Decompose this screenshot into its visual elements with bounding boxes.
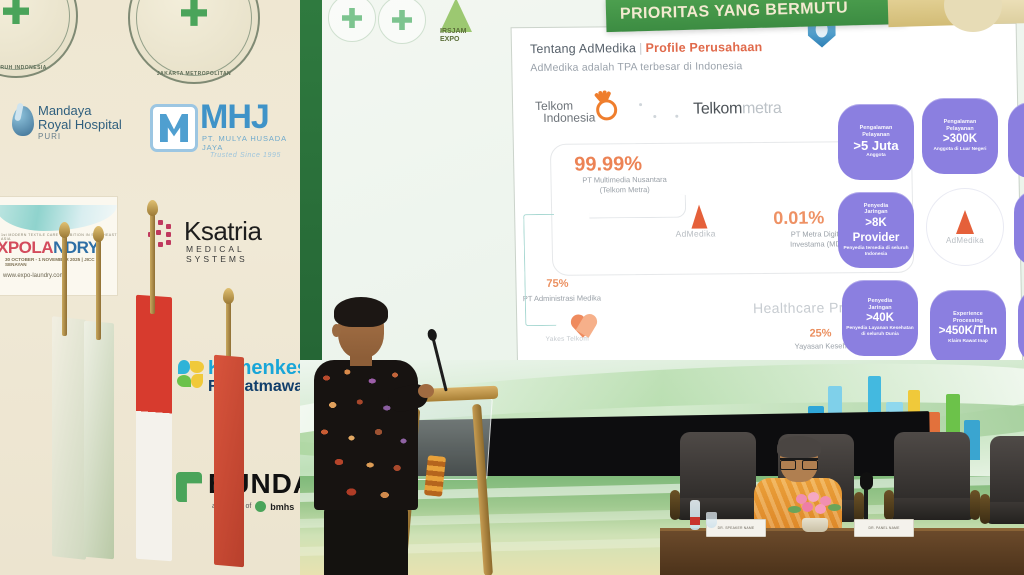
panelist-eyeglasses-icon [780, 458, 818, 468]
partner-logo-row: Telkom Indonesia Telkommetra [535, 92, 806, 130]
flagpole-finial-left [59, 222, 70, 238]
flower-vase [802, 518, 828, 532]
logo-mandaya-royal-hospital: Mandaya Royal Hospital PURI [38, 104, 158, 141]
badge-sub: Penyedia tersedia di seluruh Indonesia [842, 246, 910, 258]
badge-caption: Experience Processing [953, 311, 983, 324]
water-bottle [690, 500, 700, 530]
pct-mdi: 0.01% [773, 208, 824, 229]
presenter-figure [310, 300, 430, 575]
flagpole-finial-right [223, 288, 234, 304]
badge-number: >8K [865, 217, 886, 230]
irsjam-line1: IRSJAM [440, 28, 466, 36]
admedika-a-icon [691, 205, 707, 229]
banner-main-text: PRIORITAS YANG BERMUTU [620, 0, 849, 24]
drinking-glass [706, 512, 717, 528]
flagpole-left [62, 236, 67, 336]
flagpole-center [96, 240, 101, 340]
admedika-a-icon [956, 210, 974, 234]
irsjam-line2: EXPO [440, 36, 466, 44]
label-telkom-metra: PT Multimedia Nusantara (Telkom Metra) [564, 175, 684, 195]
mandaya-line2: Royal Hospital [38, 118, 158, 132]
pct-telkom-metra: 99.99% [574, 153, 642, 177]
chair-arm-left [980, 494, 990, 524]
badge-edge-right: >6 [1018, 288, 1024, 364]
stats-badge-grid: Pengalaman Pelayanan >5 Juta Anggota Pen… [838, 104, 1024, 380]
slide-subheading: AdMedika adalah TPA terbesar di Indonesi… [530, 58, 998, 74]
mandaya-sub: PURI [38, 132, 158, 141]
badge-pengalaman-edge: Pengalaman Pelayanan 1 Ex [1008, 102, 1024, 178]
telkom-connector-dots [535, 92, 805, 94]
flower-arrangement [788, 492, 844, 526]
kemenkes-mark-icon [178, 360, 206, 390]
chair-seat [676, 498, 760, 520]
mhj-monogram-icon [150, 104, 198, 152]
badge-admedika-logo: AdMedika [926, 188, 1004, 266]
flagpole-finial-indonesia [147, 200, 158, 216]
badge-sub: Anggota di Luar Negeri [933, 147, 986, 153]
mandaya-mark-icon [12, 106, 34, 136]
badge-experience-processing: Experience Processing >450K/Thn Klaim Ra… [930, 290, 1006, 366]
presenter-batik-shirt [314, 360, 418, 510]
panel-table: DR. SPEAKER NAME DR. PANEL NAME [660, 528, 1024, 575]
badge-penyedia-jaringan-provider: Penyedia Jaringan >8K Provider Penyedia … [838, 192, 914, 268]
badge-sub: Klaim Rawat Inap [948, 339, 988, 345]
flag-white-green [84, 321, 114, 560]
badge-caption: Pengalaman Pelayanan [860, 125, 893, 138]
ksatria-sub: MEDICAL SYSTEMS [186, 244, 310, 264]
bmhs-wordmark: bmhs [270, 502, 294, 512]
mhj-wordmark: MHJ [200, 100, 310, 134]
chair-arm-right [970, 490, 980, 520]
slide-heading-right: Profile Perusahaan [645, 40, 762, 55]
badge-sub: Anggota [866, 153, 885, 159]
telkommetra-bold: Telkom [693, 100, 742, 117]
presenter-hair [334, 297, 388, 327]
badge-penyedia-jaringan-dunia: Penyedia Jaringan >40K Penyedia Layanan … [842, 280, 918, 356]
batik-pattern [314, 360, 418, 510]
badge-caption: Penyedia Jaringan [868, 298, 892, 311]
badge-pengalaman-pelayanan-anggota: Pengalaman Pelayanan >5 Juta Anggota [838, 104, 914, 180]
presenter-trousers [324, 506, 408, 575]
expo-title-b: LA [31, 238, 53, 257]
mandaya-line1: Mandaya [38, 104, 158, 118]
badge-number: >40K [866, 312, 894, 325]
presenter-ear [332, 324, 341, 337]
telkom-indonesia-logo: Telkom Indonesia [535, 100, 596, 125]
mhj-tagline: Trusted Since 1995 [210, 152, 310, 159]
presenter-hand [418, 384, 434, 398]
chair-seat [890, 498, 974, 520]
badge-edge-mid-right [1014, 190, 1024, 266]
telkom-burst-icon [591, 90, 617, 114]
badge-caption: Pengalaman Pelayanan [944, 119, 977, 132]
seal-text: SELURUH INDONESIA [0, 65, 76, 71]
flag-red-right [214, 355, 244, 568]
org-connector-teal [523, 214, 556, 326]
chair-arm-right [854, 492, 864, 522]
slide-heading-divider: | [639, 41, 643, 55]
bmhs-mark-icon [255, 501, 266, 512]
sponsor-backdrop-wall: SELURUH INDONESIA JAKARTA METROPOLITAN M… [0, 0, 320, 575]
badge-pengalaman-pelayanan-luar-negeri: Pengalaman Pelayanan >300K Anggota di Lu… [922, 98, 998, 174]
org-connector-line [589, 195, 686, 219]
admedika-wordmark: AdMedika [946, 236, 984, 245]
irsjam-expo-logo: IRSJAM EXPO [434, 0, 480, 46]
chair-arm-left [884, 490, 894, 520]
yakes-heart-icon [567, 311, 597, 337]
ksatria-wordmark: Ksatria [184, 218, 310, 244]
namecard-right: DR. PANEL NAME [854, 519, 914, 537]
expo-url: www.expo-laundry.com [3, 273, 65, 279]
seal-text: JAKARTA METROPOLITAN [130, 71, 258, 77]
admedika-wordmark: AdMedika [675, 228, 715, 238]
logo-mhj: MHJ PT. MULYA HUSADA JAYA Trusted Since … [150, 100, 310, 159]
chair-seat [986, 502, 1024, 524]
expo-title-c: NDRY [53, 238, 99, 257]
telkom-metra-logo: Telkommetra [693, 100, 782, 119]
telkom-indonesia-line2: Indonesia [543, 112, 595, 124]
badge-number: >5 Juta [853, 139, 898, 152]
flagpole-finial-center [93, 226, 104, 242]
badge-number-2: Provider [853, 232, 900, 245]
panelist-hair [777, 436, 821, 458]
floor-microphone-head [860, 472, 873, 490]
telkommetra-light: metra [742, 100, 782, 117]
expo-title-a: XPO [0, 238, 31, 257]
mhj-company: PT. MULYA HUSADA JAYA [202, 134, 310, 152]
hospital-seal-1-icon [328, 0, 376, 42]
chair-back [990, 436, 1024, 508]
pct-yakes: 25% [809, 327, 831, 339]
chair-arm-left [670, 490, 680, 520]
badge-number: >450K/Thn [939, 325, 997, 338]
badge-number: >300K [943, 133, 977, 146]
seal-seluruh-indonesia: SELURUH INDONESIA [0, 0, 78, 78]
flag-indonesia [136, 295, 172, 562]
expo-title: XPOLANDRY [0, 238, 99, 258]
slide-heading: Tentang AdMedika|Profile Perusahaan [530, 38, 998, 56]
yakes-wordmark: Yakes Telkom [546, 336, 590, 343]
flag-green-left [52, 316, 86, 560]
chair-back [894, 432, 970, 504]
bunda-mark-icon [176, 472, 202, 502]
badge-caption: Penyedia Jaringan [864, 203, 888, 216]
hospital-seal-2-icon [378, 0, 426, 44]
slide-heading-left: Tentang AdMedika [530, 41, 636, 56]
panel-seating-area: DR. SPEAKER NAME DR. PANEL NAME [660, 432, 1024, 575]
chair-back [680, 432, 756, 504]
logo-ksatria-medical-systems: Ksatria MEDICAL SYSTEMS [150, 218, 310, 264]
seal-jakarta-metropolitan: JAKARTA METROPOLITAN [128, 0, 260, 84]
badge-sub: Penyedia Layanan Kesehatan di seluruh Du… [846, 326, 914, 338]
conference-photo-scene: SELURUH INDONESIA JAKARTA METROPOLITAN M… [0, 0, 1024, 575]
telkom-ring [596, 99, 617, 120]
flagpole-indonesia [150, 214, 155, 314]
